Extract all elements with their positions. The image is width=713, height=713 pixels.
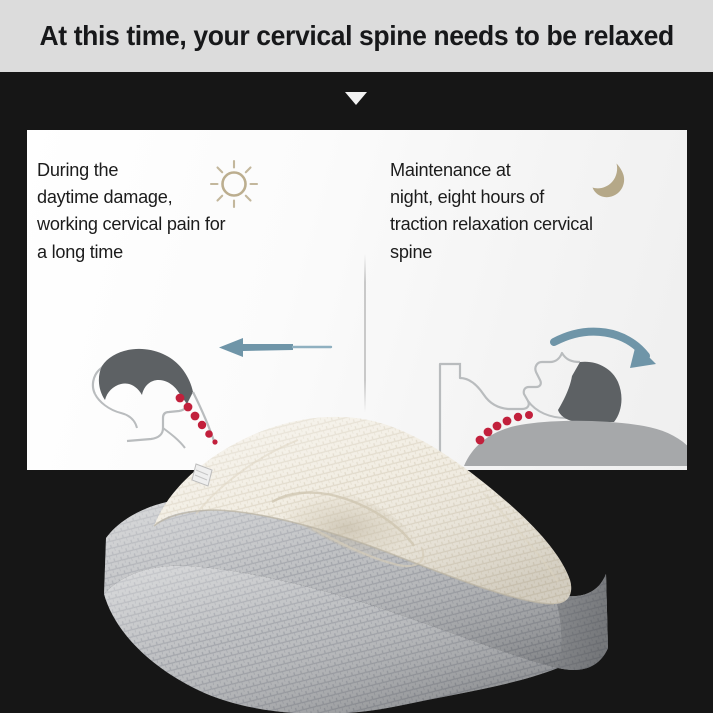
column-daytime: During the daytime damage, working cervi… bbox=[37, 156, 357, 265]
column-divider bbox=[364, 254, 366, 412]
column-night: Maintenance at night, eight hours of tra… bbox=[390, 156, 682, 265]
column-daytime-text: During the daytime damage, working cervi… bbox=[37, 156, 351, 265]
header-bar: At this time, your cervical spine needs … bbox=[0, 0, 713, 72]
column-night-text: Maintenance at night, eight hours of tra… bbox=[390, 156, 676, 265]
cervical-support-pillow bbox=[92, 398, 622, 713]
chevron-down-triangle-icon bbox=[345, 92, 367, 106]
promotional-banner: At this time, your cervical spine needs … bbox=[0, 0, 713, 713]
direction-arrow-icon bbox=[554, 332, 656, 368]
direction-arrow-icon bbox=[219, 338, 331, 357]
page-title: At this time, your cervical spine needs … bbox=[39, 20, 673, 52]
